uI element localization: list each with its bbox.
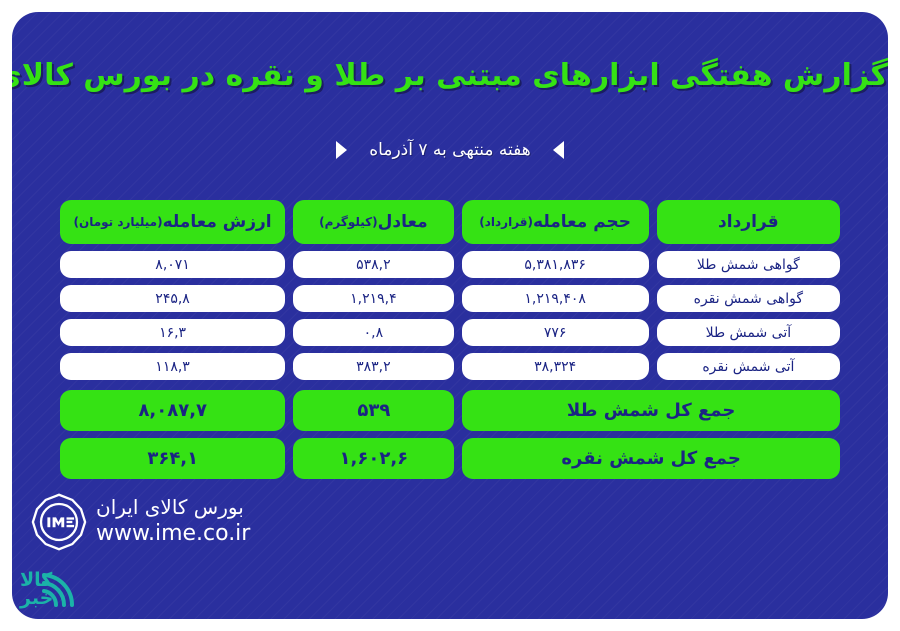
watermark-line2: خبر	[20, 589, 53, 607]
table-row: آتی شمش طلا ۷۷۶ ۰,۸ ۱۶,۳	[60, 319, 840, 346]
cell-equivalent: ۳۸۳,۲	[293, 353, 453, 380]
column-header-value-label: ارزش معامله	[163, 212, 272, 232]
summary-label-silver: جمع کل شمش نقره	[462, 438, 840, 479]
summary-value-gold: ۸,۰۸۷,۷	[60, 390, 285, 431]
organization-name: بورس کالای ایران	[96, 495, 250, 520]
page-title: گزارش هفتگی ابزارهای مبتنی بر طلا و نقره…	[12, 58, 888, 93]
chevron-left-icon	[336, 141, 347, 159]
cell-contract: گواهی شمش نقره	[657, 285, 840, 312]
watermark-kalakhabar: کالا خبر	[20, 571, 53, 607]
column-header-equivalent-unit: (کیلوگرم)	[319, 215, 378, 229]
table-header-row: قرارداد حجم معامله(قرارداد) معادل(کیلوگر…	[60, 200, 840, 244]
website-url[interactable]: www.ime.co.ir	[96, 520, 250, 548]
column-header-contract-label: قرارداد	[718, 212, 779, 232]
cell-contract: آتی شمش نقره	[657, 353, 840, 380]
column-header-equivalent-label: معادل	[378, 212, 428, 232]
summary-equivalent-gold: ۵۳۹	[293, 390, 454, 431]
cell-volume: ۳۸,۳۲۴	[462, 353, 649, 380]
table-row: گواهی شمش طلا ۵,۳۸۱,۸۳۶ ۵۳۸,۲ ۸,۰۷۱	[60, 251, 840, 278]
cell-equivalent: ۵۳۸,۲	[293, 251, 453, 278]
brand-block: بورس کالای ایران www.ime.co.ir	[96, 495, 250, 548]
summary-value-silver: ۳۶۴,۱	[60, 438, 285, 479]
summary-equivalent-silver: ۱,۶۰۲,۶	[293, 438, 454, 479]
report-table: قرارداد حجم معامله(قرارداد) معادل(کیلوگر…	[60, 200, 840, 486]
column-header-contract: قرارداد	[657, 200, 840, 244]
footer: بورس کالای ایران www.ime.co.ir کالا	[12, 487, 888, 579]
poster-canvas: گزارش هفتگی ابزارهای مبتنی بر طلا و نقره…	[12, 12, 888, 619]
cell-equivalent: ۱,۲۱۹,۴	[293, 285, 453, 312]
summary-row-silver: جمع کل شمش نقره ۱,۶۰۲,۶ ۳۶۴,۱	[60, 438, 840, 479]
column-header-value-unit: (میلیارد تومان)	[74, 215, 163, 229]
table-row: گواهی شمش نقره ۱,۲۱۹,۴۰۸ ۱,۲۱۹,۴ ۲۴۵,۸	[60, 285, 840, 312]
cell-equivalent: ۰,۸	[293, 319, 453, 346]
cell-volume: ۵,۳۸۱,۸۳۶	[462, 251, 649, 278]
column-header-volume-unit: (قرارداد)	[479, 215, 533, 229]
cell-contract: آتی شمش طلا	[657, 319, 840, 346]
column-header-equivalent: معادل(کیلوگرم)	[293, 200, 453, 244]
column-header-volume-label: حجم معامله	[533, 212, 631, 232]
subtitle-row: هفته منتهی به ۷ آذرماه	[12, 140, 888, 160]
ime-logo-icon	[30, 493, 88, 551]
cell-volume: ۷۷۶	[462, 319, 649, 346]
subtitle-period: هفته منتهی به ۷ آذرماه	[369, 140, 531, 160]
table-row: آتی شمش نقره ۳۸,۳۲۴ ۳۸۳,۲ ۱۱۸,۳	[60, 353, 840, 380]
chevron-right-icon	[553, 141, 564, 159]
cell-value: ۸,۰۷۱	[60, 251, 285, 278]
cell-value: ۱۱۸,۳	[60, 353, 285, 380]
column-header-value: ارزش معامله(میلیارد تومان)	[60, 200, 285, 244]
cell-value: ۲۴۵,۸	[60, 285, 285, 312]
cell-volume: ۱,۲۱۹,۴۰۸	[462, 285, 649, 312]
column-header-volume: حجم معامله(قرارداد)	[462, 200, 649, 244]
summary-row-gold: جمع کل شمش طلا ۵۳۹ ۸,۰۸۷,۷	[60, 390, 840, 431]
summary-label-gold: جمع کل شمش طلا	[462, 390, 840, 431]
cell-contract: گواهی شمش طلا	[657, 251, 840, 278]
cell-value: ۱۶,۳	[60, 319, 285, 346]
